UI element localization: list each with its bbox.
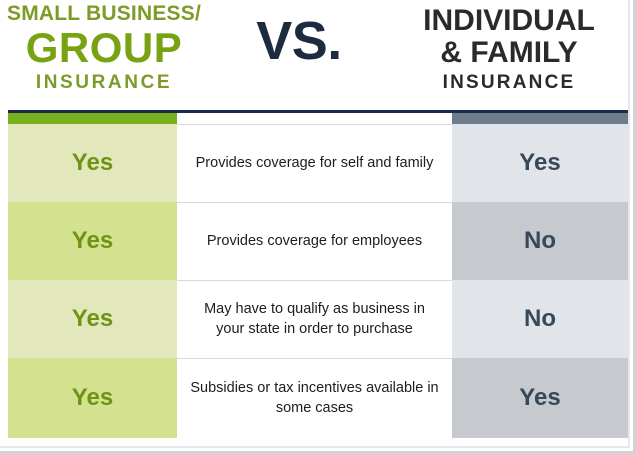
- cell-feature-label: Provides coverage for employees: [177, 202, 452, 280]
- cell-group-answer: Yes: [8, 124, 177, 202]
- table-row: Yes Provides coverage for employees No: [8, 202, 628, 280]
- column-accent-group: [8, 113, 177, 124]
- cell-individual-answer: No: [452, 280, 628, 358]
- comparison-infographic: SMALL BUSINESS/ GROUP INSURANCE VS. INDI…: [0, 0, 636, 454]
- cell-feature-label: Subsidies or tax incentives available in…: [177, 358, 452, 438]
- column-accent-individual: [452, 113, 628, 124]
- table-bottom-edge: [8, 438, 628, 440]
- table-row: Yes May have to qualify as business in y…: [8, 280, 628, 358]
- cell-group-answer: Yes: [8, 358, 177, 438]
- cell-individual-answer: Yes: [452, 124, 628, 202]
- header-individual-line2: & FAMILY: [440, 37, 577, 69]
- table-row: Yes Provides coverage for self and famil…: [8, 124, 628, 202]
- header-individual-insurance: INDIVIDUAL & FAMILY INSURANCE: [394, 0, 624, 93]
- header-individual-line1: INDIVIDUAL: [423, 5, 595, 37]
- table-row: Yes Subsidies or tax incentives availabl…: [8, 358, 628, 438]
- cell-feature-label: May have to qualify as business in your …: [177, 280, 452, 358]
- cell-feature-label: Provides coverage for self and family: [177, 124, 452, 202]
- column-accent-bars: [8, 113, 628, 124]
- comparison-table: Yes Provides coverage for self and famil…: [8, 113, 628, 438]
- header-group-line1: SMALL BUSINESS/: [7, 3, 201, 26]
- versus-label: VS.: [256, 14, 342, 68]
- header-individual-line3: INSURANCE: [443, 73, 576, 94]
- cell-individual-answer: Yes: [452, 358, 628, 438]
- column-accent-spacer: [177, 113, 452, 124]
- cell-individual-answer: No: [452, 202, 628, 280]
- header-versus: VS.: [204, 0, 394, 68]
- header-group-line2: GROUP: [26, 27, 183, 69]
- infographic-header: SMALL BUSINESS/ GROUP INSURANCE VS. INDI…: [0, 0, 628, 110]
- header-group-line3: INSURANCE: [36, 73, 172, 94]
- cell-group-answer: Yes: [8, 280, 177, 358]
- header-group-insurance: SMALL BUSINESS/ GROUP INSURANCE: [4, 0, 204, 94]
- cell-group-answer: Yes: [8, 202, 177, 280]
